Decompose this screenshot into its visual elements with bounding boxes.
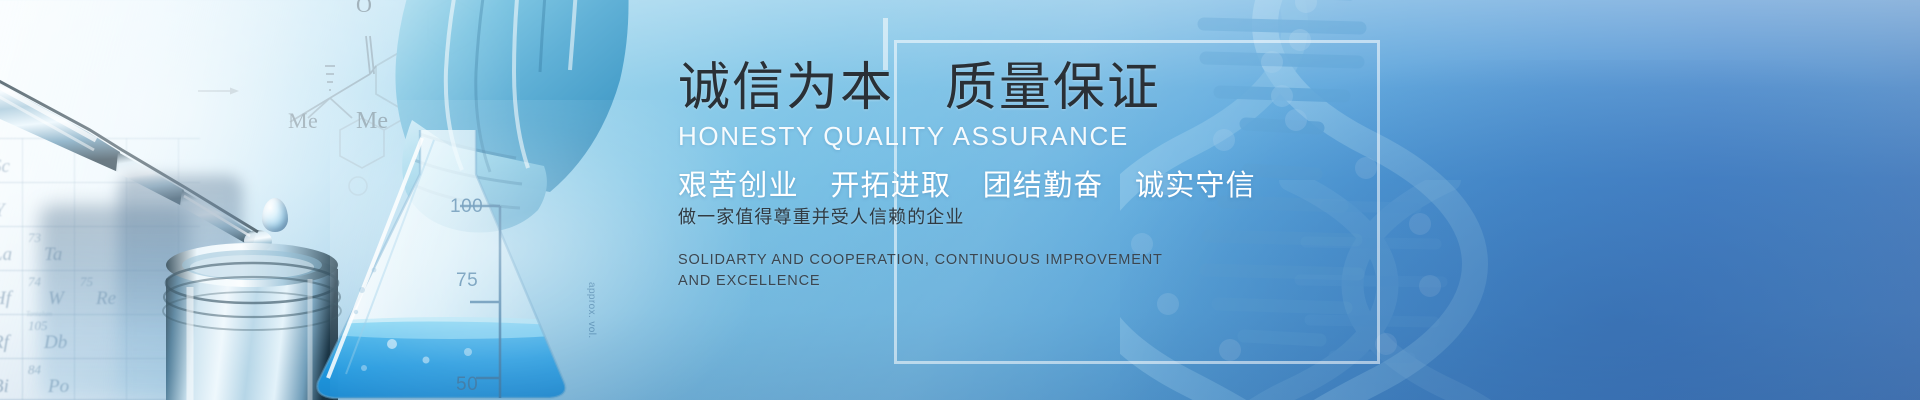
slogan-item-1: 艰苦创业	[678, 170, 799, 202]
headline-chinese-part1: 诚信为本	[678, 59, 894, 117]
ptable-symbol: Hf	[0, 288, 11, 310]
flask-volume-label: approx. vol.	[586, 282, 597, 339]
slogan-item-3: 团结勤奋	[983, 170, 1104, 202]
ptable-symbol: Rf	[0, 332, 9, 354]
ptable-symbol: Bi	[0, 376, 9, 398]
hero-banner: 21 Sc 39 Y 57 La 72 Hf Hafnium 73 Ta Tan…	[0, 0, 1920, 400]
flask-graduation-50: 50	[456, 374, 478, 396]
flask-graduation-100: 100	[450, 196, 483, 218]
headline-english: HONESTY QUALITY ASSURANCE	[678, 123, 1378, 149]
liquid-droplet-icon	[262, 198, 288, 232]
flask-graduation-75: 75	[456, 270, 478, 292]
erlenmeyer-flask-graphic	[300, 130, 600, 400]
description-english-line1: SOLIDARTY AND COOPERATION, CONTINUOUS IM…	[678, 250, 1378, 271]
headline-chinese-part2: 质量保证	[945, 59, 1161, 117]
description-english: SOLIDARTY AND COOPERATION, CONTINUOUS IM…	[678, 250, 1378, 291]
slogan-item-4: 诚实守信	[1135, 170, 1256, 202]
tagline-chinese: 做一家值得尊重并受人信赖的企业	[678, 208, 1378, 228]
banner-text-block: 诚信为本 质量保证 HONESTY QUALITY ASSURANCE 艰苦创业…	[678, 62, 1378, 291]
description-english-line2: AND EXCELLENCE	[678, 271, 1378, 292]
slogan-item-2: 开拓进取	[830, 170, 951, 202]
slogan-chinese: 艰苦创业 开拓进取 团结勤奋 诚实守信	[678, 171, 1378, 201]
headline-chinese: 诚信为本 质量保证	[678, 62, 1378, 114]
